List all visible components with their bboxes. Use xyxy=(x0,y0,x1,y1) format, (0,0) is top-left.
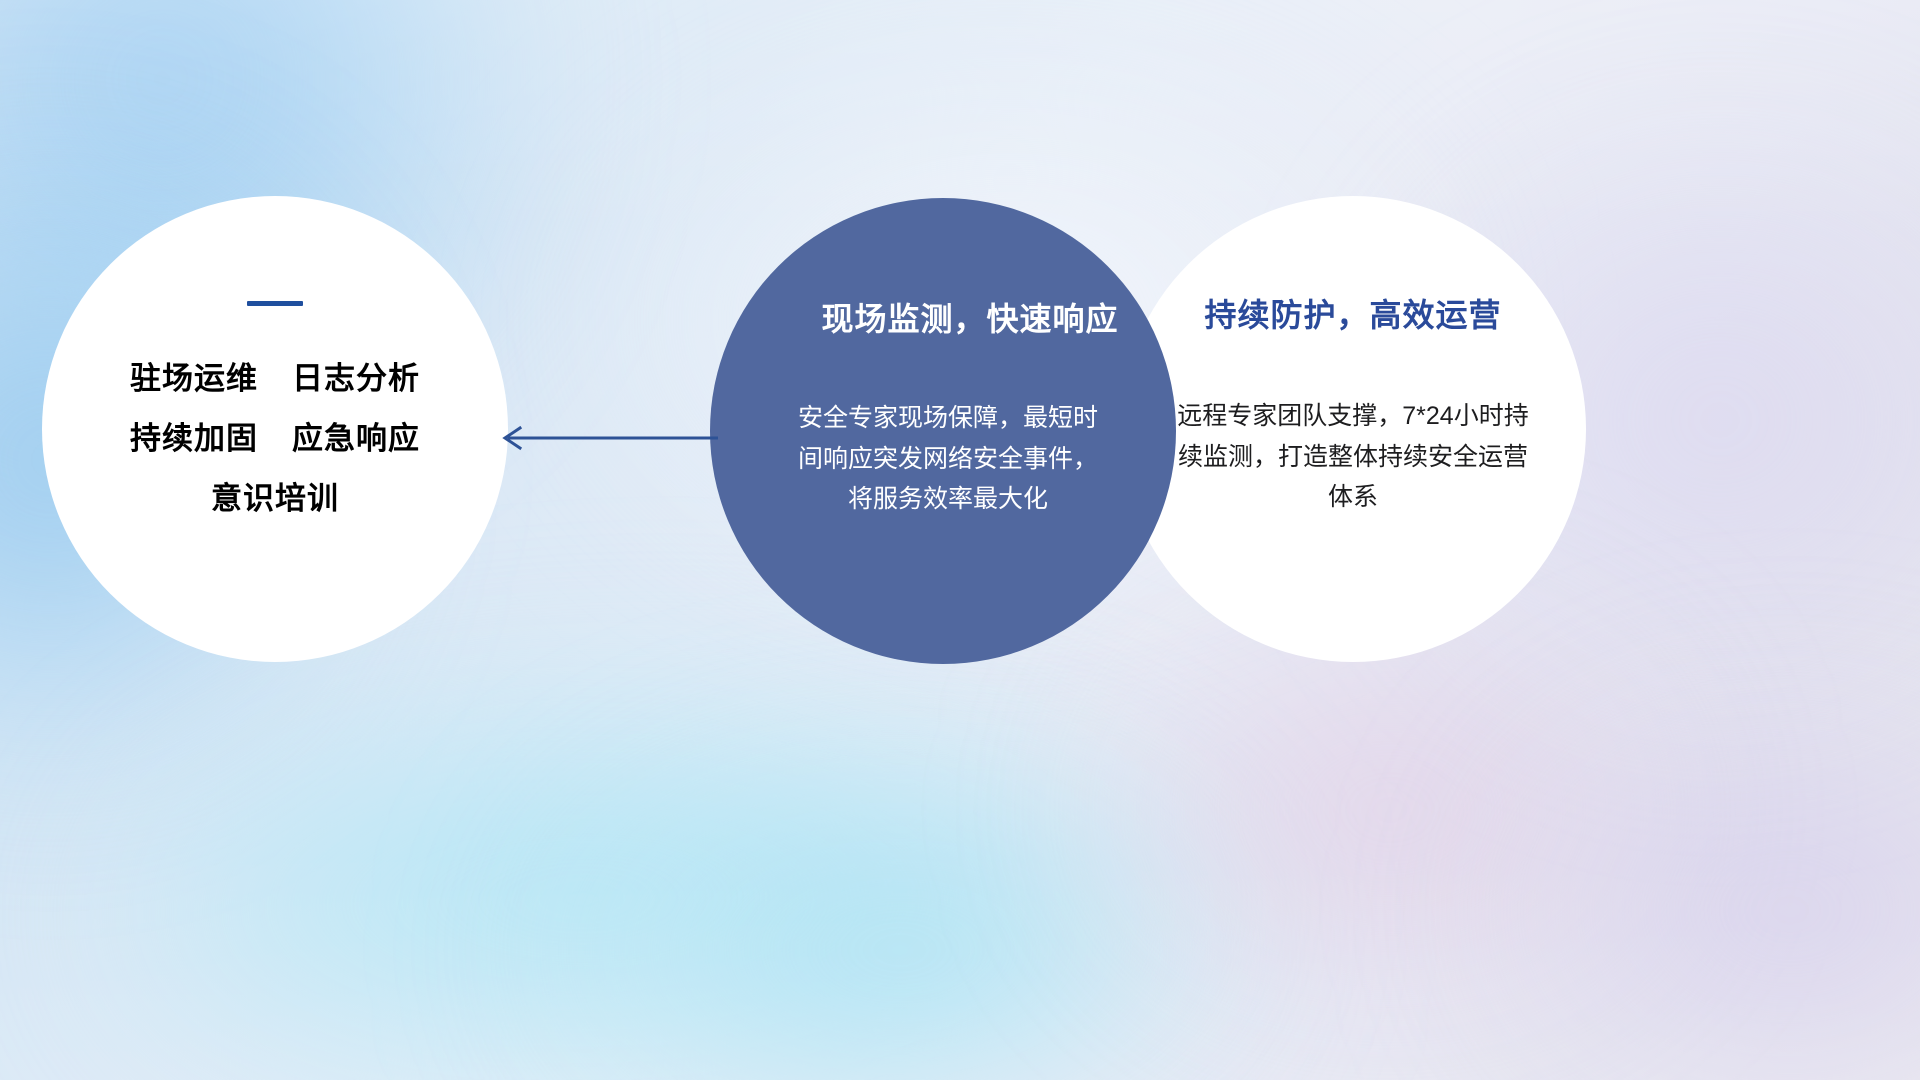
capability-circle-left: 驻场运维 日志分析 持续加固 应急响应 意识培训 xyxy=(42,196,508,662)
accent-dash-icon xyxy=(247,301,303,306)
tag-row: 驻场运维 日志分析 xyxy=(68,362,482,396)
capability-tag: 持续加固 xyxy=(130,422,258,456)
tag-row: 持续加固 应急响应 xyxy=(68,422,482,456)
capability-tag: 应急响应 xyxy=(292,422,420,456)
capability-tag: 意识培训 xyxy=(211,482,339,516)
capability-circle-right: 持续防护，高效运营 远程专家团队支撑，7*24小时持续监测，打造整体持续安全运营… xyxy=(1120,196,1586,662)
right-circle-content: 持续防护，高效运营 远程专家团队支撑，7*24小时持续监测，打造整体持续安全运营… xyxy=(1120,290,1586,518)
arrow-left-icon xyxy=(490,408,720,468)
center-circle-body: 安全专家现场保障，最短时间响应突发网络安全事件，将服务效率最大化 xyxy=(770,398,1126,520)
capability-tag: 驻场运维 xyxy=(130,362,258,396)
center-circle-content: 现场监测，快速响应 安全专家现场保障，最短时间响应突发网络安全事件，将服务效率最… xyxy=(710,294,1176,520)
arrow-left-svg xyxy=(490,408,720,468)
slide-canvas: 驻场运维 日志分析 持续加固 应急响应 意识培训 持续防护，高效运营 远程专家团… xyxy=(0,0,1920,1080)
left-circle-content: 驻场运维 日志分析 持续加固 应急响应 意识培训 xyxy=(42,301,508,516)
capability-tag: 日志分析 xyxy=(292,362,420,396)
right-circle-title: 持续防护，高效运营 xyxy=(1160,290,1546,336)
capability-circle-center: 现场监测，快速响应 安全专家现场保障，最短时间响应突发网络安全事件，将服务效率最… xyxy=(710,198,1176,664)
center-circle-title: 现场监测，快速响应 xyxy=(778,294,1162,340)
right-circle-body: 远程专家团队支撑，7*24小时持续监测，打造整体持续安全运营体系 xyxy=(1160,396,1546,518)
tag-row: 意识培训 xyxy=(68,482,482,516)
